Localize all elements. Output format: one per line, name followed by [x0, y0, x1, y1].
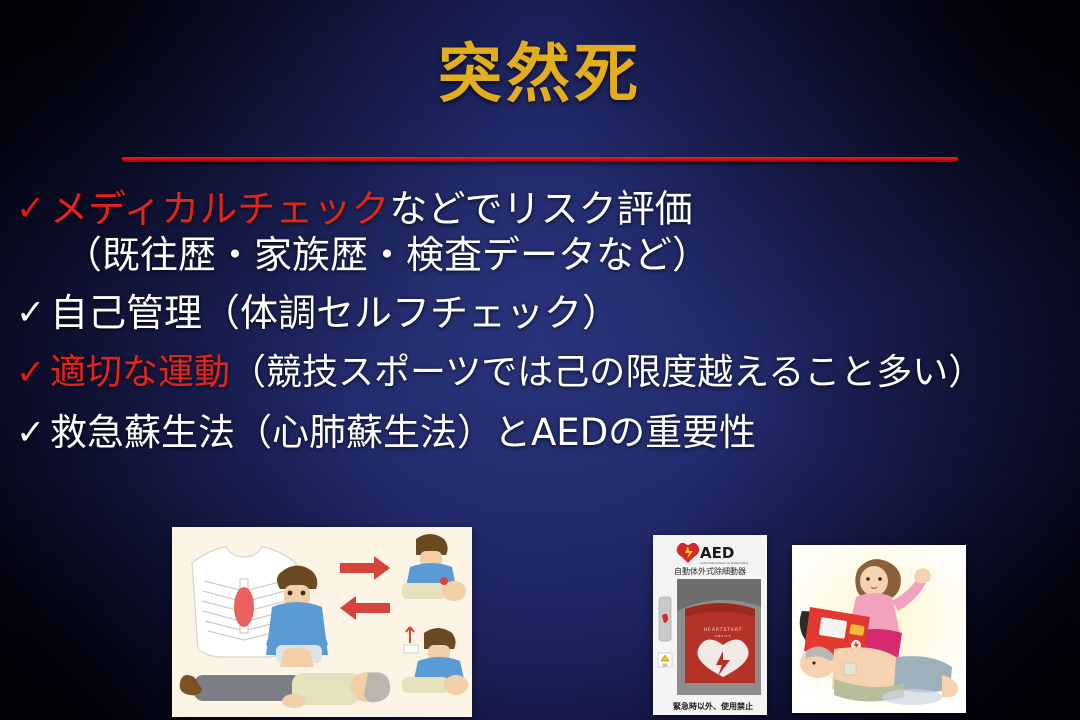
svg-text:Automated External Defibrillat: Automated External Defibrillator — [700, 561, 750, 565]
bullet-list: ✓ メディカルチェックなどでリスク評価 （既往歴・家族歴・検査データなど） ✓ … — [16, 186, 1072, 462]
svg-text:AED: AED — [700, 544, 734, 562]
checkmark-icon: ✓ — [16, 290, 50, 336]
checkmark-icon: ✓ — [16, 186, 50, 232]
svg-text:HEARTSTART: HEARTSTART — [704, 627, 743, 633]
cpr-illustration-image — [172, 527, 472, 717]
bullet-item-appropriate-exercise: ✓ 適切な運動（競技スポーツでは己の限度越えること多い） — [16, 350, 1072, 396]
bullet-item-self-management: ✓ 自己管理（体調セルフチェック） — [16, 290, 1072, 336]
bullet-normal-text: （競技スポーツでは己の限度越えること多い） — [230, 352, 984, 393]
svg-text:ONSITE: ONSITE — [714, 634, 731, 638]
bullet-subline: （既往歴・家族歴・検査データなど） — [50, 232, 1072, 278]
bullet-emphasis-text: 適切な運動 — [50, 352, 230, 393]
bullet-item-cpr-aed: ✓ 救急蘇生法（心肺蘇生法）とAEDの重要性 — [16, 410, 1072, 456]
svg-text:注意: 注意 — [662, 663, 668, 667]
bullet-normal-text: 救急蘇生法（心肺蘇生法）とAEDの重要性 — [50, 411, 756, 454]
bullet-normal-text: などでリスク評価 — [389, 187, 692, 231]
bullet-item-medical-check: ✓ メディカルチェックなどでリスク評価 （既往歴・家族歴・検査データなど） — [16, 186, 1072, 278]
bullet-text: 適切な運動（競技スポーツでは己の限度越えること多い） — [50, 350, 1072, 396]
bullet-text: メディカルチェックなどでリスク評価 （既往歴・家族歴・検査データなど） — [50, 186, 1072, 278]
svg-text:緊急時以外、使用禁止: 緊急時以外、使用禁止 — [673, 701, 753, 711]
title-divider-line — [122, 157, 958, 162]
bullet-text: 救急蘇生法（心肺蘇生法）とAEDの重要性 — [50, 410, 1072, 456]
aed-usage-illustration-image — [792, 545, 966, 713]
bullet-text: 自己管理（体調セルフチェック） — [50, 290, 1072, 336]
svg-text:自動体外式除細動器: 自動体外式除細動器 — [674, 566, 746, 576]
bullet-normal-text: 自己管理（体調セルフチェック） — [50, 291, 620, 335]
aed-cabinet-image: AED Automated External Defibrillator 自動体… — [653, 535, 767, 715]
bullet-emphasis-text: メディカルチェック — [50, 187, 389, 231]
page-title: 突然死 — [0, 38, 1080, 112]
slide-canvas: 突然死 ✓ メディカルチェックなどでリスク評価 （既往歴・家族歴・検査データなど… — [0, 0, 1080, 720]
checkmark-icon: ✓ — [16, 410, 50, 456]
checkmark-icon: ✓ — [16, 350, 50, 396]
